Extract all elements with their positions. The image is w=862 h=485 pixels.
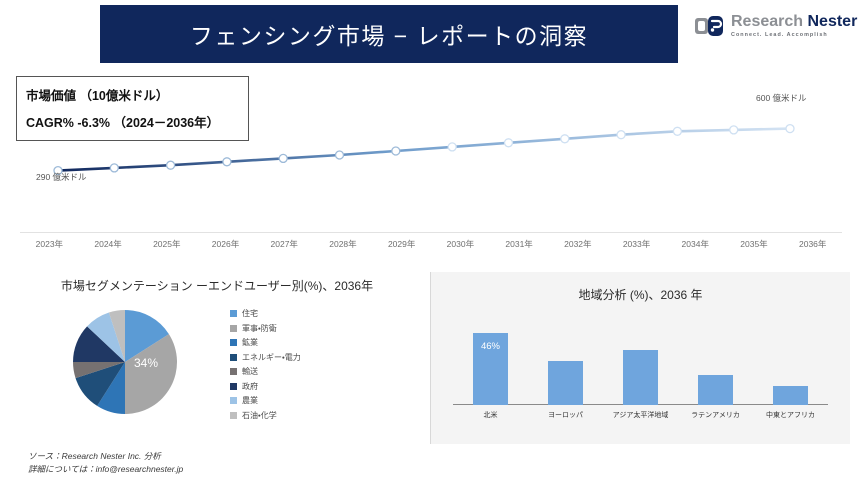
footer-source: ソース：Research Nester Inc. 分析 詳細については：info…	[28, 450, 183, 476]
bar-column: 46%	[460, 319, 522, 405]
region-tick-label: アジア太平洋地域	[610, 410, 672, 420]
logo-text: Research Nester Connect. Lead. Accomplis…	[731, 14, 857, 38]
bar-column	[760, 319, 822, 405]
line-marker	[673, 127, 681, 135]
source-line: ソース：Research Nester Inc. 分析	[28, 450, 183, 463]
pie-legend-item[interactable]: エネルギー・電力	[230, 350, 301, 365]
line-start-value-label: 290 億米ドル	[36, 171, 87, 183]
line-marker	[279, 154, 287, 162]
bar-rect[interactable]	[773, 386, 808, 405]
year-tick-label: 2029年	[372, 238, 431, 250]
line-marker	[505, 139, 513, 147]
year-tick-label: 2035年	[725, 238, 784, 250]
year-tick-label: 2032年	[548, 238, 607, 250]
bar-column	[685, 319, 747, 405]
line-chart-axis	[20, 232, 842, 233]
bar-value-label: 46%	[473, 341, 508, 352]
pie-legend-label: エネルギー・電力	[242, 352, 301, 363]
pie-legend: 住宅軍事・防衛鉱業エネルギー・電力輸送政府農業石油・化学	[230, 306, 301, 422]
market-value-line-chart: 290 億米ドル 600 億米ドル	[0, 70, 862, 240]
year-tick-label: 2036年	[783, 238, 842, 250]
line-marker	[730, 126, 738, 134]
year-tick-label: 2028年	[314, 238, 373, 250]
line-marker	[561, 135, 569, 143]
logo-name-second: Nester	[808, 13, 858, 30]
bar-rect[interactable]	[623, 350, 658, 405]
year-tick-label: 2023年	[20, 238, 79, 250]
legend-swatch-icon	[230, 397, 237, 404]
year-tick-label: 2034年	[666, 238, 725, 250]
line-marker	[336, 151, 344, 159]
header-banner: フェンシング市場 − レポートの洞察	[100, 5, 678, 63]
bar-chart-x-axis-labels: 北米ヨーロッパアジア太平洋地域ラテンアメリカ中東とアフリカ	[453, 410, 828, 420]
pie-legend-label: 住宅	[242, 308, 258, 319]
year-tick-label: 2027年	[255, 238, 314, 250]
pie-legend-item[interactable]: 石油・化学	[230, 408, 301, 423]
legend-swatch-icon	[230, 383, 237, 390]
line-marker	[786, 125, 794, 133]
line-marker	[448, 143, 456, 151]
line-marker	[167, 161, 175, 169]
regional-bar-chart: 46%	[453, 319, 828, 405]
year-tick-label: 2025年	[137, 238, 196, 250]
segmentation-pie-chart: 34%	[50, 301, 200, 423]
pie-slices	[73, 310, 177, 414]
region-tick-label: 北米	[460, 410, 522, 420]
pie-legend-label: 農業	[242, 395, 258, 406]
page-title: フェンシング市場 − レポートの洞察	[190, 17, 588, 51]
line-chart-svg	[0, 70, 862, 240]
legend-swatch-icon	[230, 368, 237, 375]
logo-tagline: Connect. Lead. Accomplish	[731, 33, 857, 38]
brand-logo: Research Nester Connect. Lead. Accomplis…	[694, 14, 857, 38]
pie-legend-item[interactable]: 農業	[230, 393, 301, 408]
bar-column	[610, 319, 672, 405]
pie-svg	[50, 301, 200, 423]
regional-analysis-title: 地域分析 (%)、2036 年	[431, 272, 850, 303]
pie-legend-item[interactable]: 住宅	[230, 306, 301, 321]
legend-swatch-icon	[230, 412, 237, 419]
year-tick-label: 2026年	[196, 238, 255, 250]
pie-legend-item[interactable]: 輸送	[230, 364, 301, 379]
year-tick-label: 2031年	[490, 238, 549, 250]
legend-swatch-icon	[230, 310, 237, 317]
logo-name: Research Nester	[731, 14, 857, 30]
pie-legend-item[interactable]: 軍事・防衛	[230, 321, 301, 336]
pie-legend-item[interactable]: 政府	[230, 379, 301, 394]
line-chart-x-axis-labels: 2023年2024年2025年2026年2027年2028年2029年2030年…	[20, 238, 842, 250]
pie-largest-slice-label: 34%	[134, 356, 158, 370]
pie-legend-label: 軍事・防衛	[242, 323, 277, 334]
legend-swatch-icon	[230, 325, 237, 332]
line-marker	[392, 147, 400, 155]
research-nester-logo-icon	[694, 14, 724, 38]
pie-legend-label: 輸送	[242, 366, 258, 377]
line-marker	[617, 131, 625, 139]
region-tick-label: 中東とアフリカ	[760, 410, 822, 420]
year-tick-label: 2033年	[607, 238, 666, 250]
segmentation-title: 市場セグメンテーション ーエンドユーザー別(%)、2036年	[12, 272, 422, 295]
contact-line: 詳細については：info@researchnester.jp	[28, 463, 183, 476]
pie-legend-label: 鉱業	[242, 337, 258, 348]
line-end-value-label: 600 億米ドル	[756, 92, 807, 104]
pie-legend-label: 石油・化学	[242, 410, 277, 421]
logo-name-first: Research	[731, 13, 803, 30]
line-marker	[223, 158, 231, 166]
bar-rect[interactable]	[548, 361, 583, 405]
legend-swatch-icon	[230, 354, 237, 361]
year-tick-label: 2030年	[431, 238, 490, 250]
region-tick-label: ラテンアメリカ	[685, 410, 747, 420]
bar-rect[interactable]: 46%	[473, 333, 508, 405]
year-tick-label: 2024年	[79, 238, 138, 250]
segmentation-body: 34% 住宅軍事・防衛鉱業エネルギー・電力輸送政府農業石油・化学	[12, 301, 422, 423]
region-tick-label: ヨーロッパ	[535, 410, 597, 420]
line-marker	[110, 164, 118, 172]
bar-column	[535, 319, 597, 405]
legend-swatch-icon	[230, 339, 237, 346]
bar-rect[interactable]	[698, 375, 733, 405]
pie-legend-item[interactable]: 鉱業	[230, 335, 301, 350]
pie-legend-label: 政府	[242, 381, 258, 392]
segmentation-panel: 市場セグメンテーション ーエンドユーザー別(%)、2036年 34% 住宅軍事・…	[12, 272, 422, 444]
regional-analysis-panel: 地域分析 (%)、2036 年 46% 北米ヨーロッパアジア太平洋地域ラテンアメ…	[430, 272, 850, 444]
